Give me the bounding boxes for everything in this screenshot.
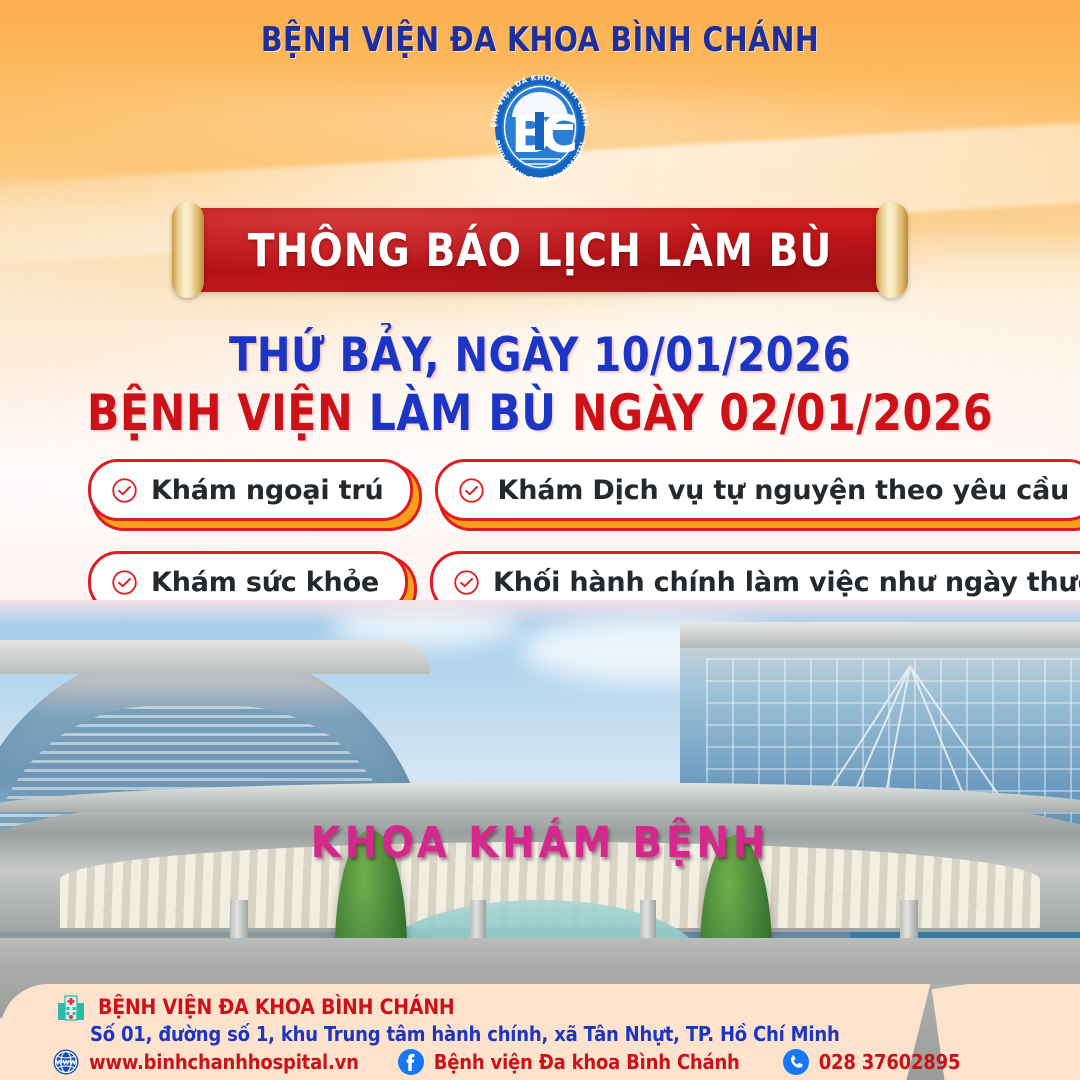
- poster-root: BỆNH VIỆN ĐA KHOA BÌNH CHÁNH B C BỆNH VI…: [0, 0, 1080, 1080]
- check-circle-icon: [453, 569, 480, 596]
- footer-address: Số 01, đường số 1, khu Trung tâm hành ch…: [90, 1022, 840, 1046]
- hospital-building-icon: [56, 992, 86, 1022]
- check-circle-icon: [111, 477, 138, 504]
- facebook-item[interactable]: Bệnh viện Đa khoa Bình Chánh: [397, 1048, 740, 1076]
- footer-contact-row: WWW www.binhchanhhospital.vn Bệnh viện Đ…: [52, 1048, 960, 1076]
- phone-item[interactable]: 028 37602895: [782, 1048, 961, 1076]
- page-title: BỆNH VIỆN ĐA KHOA BÌNH CHÁNH: [38, 20, 1042, 60]
- service-pill-kham-dich-vu[interactable]: Khám Dịch vụ tự nguyện theo yêu cầu: [435, 459, 1080, 521]
- website-item[interactable]: WWW www.binhchanhhospital.vn: [52, 1048, 359, 1076]
- date-line2-part3: NGÀY 02/01/2026: [572, 384, 993, 442]
- banner-title: THÔNG BÁO LỊCH LÀM BÙ: [183, 202, 897, 298]
- footer-website: www.binhchanhhospital.vn: [89, 1050, 359, 1074]
- photo-top-fade: [0, 600, 1080, 626]
- hospital-seal-logo: B C BỆNH VIỆN ĐA KHOA BÌNH CHÁNH BÌNH CH…: [480, 68, 600, 186]
- svg-text:WWW: WWW: [56, 1060, 77, 1067]
- phone-icon: [782, 1048, 810, 1076]
- svg-text:C: C: [540, 105, 578, 165]
- service-label: Khám ngoại trú: [151, 475, 384, 506]
- service-label: Khối hành chính làm việc như ngày thường: [493, 567, 1080, 598]
- service-row-1: Khám ngoại trú Khám Dịch vụ tự nguyện th…: [88, 459, 1080, 521]
- hospital-entrance-photo: KHOA KHÁM BỆNH: [0, 600, 1080, 1018]
- service-pill-kham-ngoai-tru[interactable]: Khám ngoại trú: [88, 459, 413, 521]
- footer-facebook: Bệnh viện Đa khoa Bình Chánh: [434, 1050, 740, 1074]
- globe-www-icon: WWW: [52, 1048, 80, 1076]
- service-label: Khám sức khỏe: [151, 567, 379, 598]
- facebook-icon: [397, 1048, 425, 1076]
- date-line-secondary: BỆNH VIỆN LÀM BÙ NGÀY 02/01/2026: [27, 384, 1053, 442]
- date-line2-part2: LÀM BÙ: [369, 384, 557, 442]
- footer-address-row: Số 01, đường số 1, khu Trung tâm hành ch…: [90, 1022, 840, 1046]
- check-circle-icon: [458, 477, 485, 504]
- date-line2-part1: BỆNH VIỆN: [87, 384, 353, 442]
- footer-phone: 028 37602895: [819, 1050, 961, 1074]
- logo-svg: B C BỆNH VIỆN ĐA KHOA BÌNH CHÁNH BÌNH CH…: [480, 68, 600, 186]
- date-line-primary: THỨ BẢY, NGÀY 10/01/2026: [27, 328, 1053, 383]
- check-circle-icon: [111, 569, 138, 596]
- footer-name-row: BỆNH VIỆN ĐA KHOA BÌNH CHÁNH: [56, 992, 455, 1022]
- footer-hospital-name: BỆNH VIỆN ĐA KHOA BÌNH CHÁNH: [98, 995, 455, 1019]
- footer-contact-panel: BỆNH VIỆN ĐA KHOA BÌNH CHÁNH Số 01, đườn…: [0, 984, 1080, 1080]
- tower-roof-band: [0, 640, 430, 674]
- announcement-banner: THÔNG BÁO LỊCH LÀM BÙ: [172, 202, 908, 298]
- service-label: Khám Dịch vụ tự nguyện theo yêu cầu: [498, 475, 1070, 506]
- building-sign-text: KHOA KHÁM BỆNH: [0, 818, 1080, 868]
